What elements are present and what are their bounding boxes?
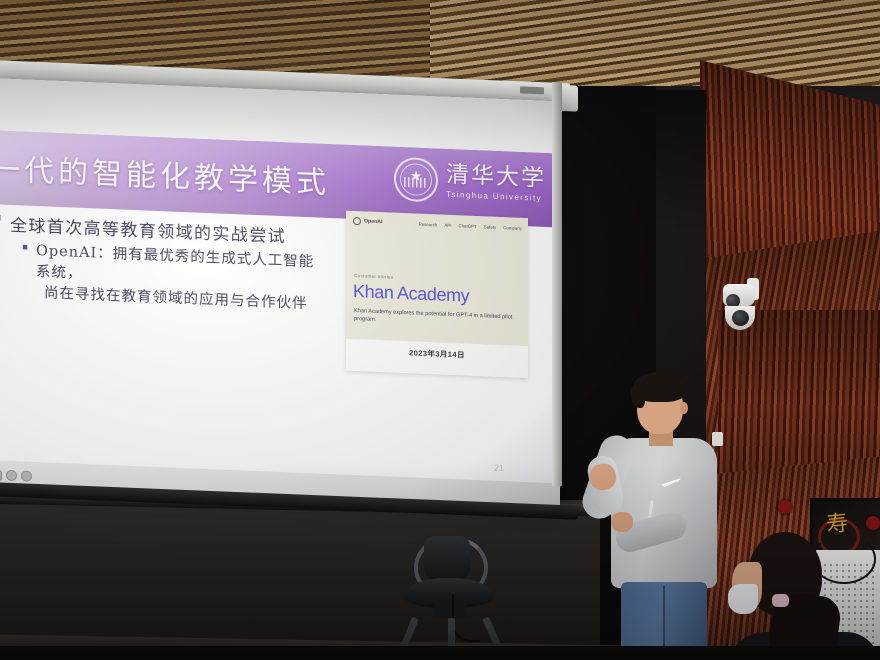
camera-dome [725, 306, 755, 330]
university-logo: 清华大学 Tsinghua University [394, 157, 546, 207]
openai-nav-links: Research API ChatGPT Safety Company [419, 221, 522, 230]
floor-strip [0, 646, 880, 660]
slide-bullet-level2-line2: 尚在寻找在教育领域的应用与合作伙伴 [36, 283, 328, 316]
slide-bullet-level2: OpenAI：拥有最优秀的生成式人工智能系统， 尚在寻找在教育领域的应用与合作伙… [0, 239, 328, 316]
projection-screen: 一代的智能化教学模式 清华大学 Tsinghua University 全球首次… [0, 78, 560, 509]
presenter-ear [680, 402, 688, 414]
slide-body: 全球首次高等教育领域的实战尝试 OpenAI：拥有最优秀的生成式人工智能系统， … [0, 210, 328, 316]
openai-webpage-screenshot: OpenAI Research API ChatGPT Safety Compa… [346, 211, 528, 378]
presenter-hair-side [631, 382, 645, 408]
wall-knob-left [778, 500, 792, 514]
tsinghua-seal-icon [394, 157, 438, 203]
screen-surface: 一代的智能化教学模式 清华大学 Tsinghua University 全球首次… [0, 78, 560, 509]
openai-mark-icon [353, 217, 361, 225]
seal-ticks [404, 177, 428, 188]
slide-bullet-level2-line1: OpenAI：拥有最优秀的生成式人工智能系统， [36, 243, 314, 282]
camera-cable [452, 594, 480, 642]
presentation-controls[interactable] [0, 469, 32, 482]
openai-nav-safety: Safety [484, 224, 496, 230]
camera-head [424, 536, 470, 580]
stop-control-icon[interactable] [0, 470, 2, 480]
housing-logo [520, 86, 544, 94]
openai-nav-research: Research [419, 221, 438, 227]
screen-right-edge [552, 82, 562, 486]
openai-headline: Khan Academy [353, 281, 469, 307]
next-control-icon[interactable] [21, 470, 32, 481]
openai-logo: OpenAI [353, 217, 382, 226]
presenter-person [585, 372, 735, 660]
presenter-lower-hand [611, 512, 633, 532]
camera-body [723, 284, 755, 306]
presenter-forearm [585, 453, 626, 516]
tripod-conference-camera [398, 534, 508, 660]
university-names: 清华大学 Tsinghua University [446, 163, 546, 202]
previous-control-icon[interactable] [6, 470, 17, 481]
openai-nav-company: Company [503, 225, 522, 231]
wall-security-camera [723, 278, 761, 334]
university-name-cn: 清华大学 [446, 163, 546, 191]
audience-member [726, 528, 880, 660]
openai-page-body: OpenAI Research API ChatGPT Safety Compa… [346, 211, 528, 346]
openai-nav-api: API [444, 222, 451, 227]
lecture-hall-screenshot: 一代的智能化教学模式 清华大学 Tsinghua University 全球首次… [0, 0, 880, 660]
dome-lens-icon [732, 310, 749, 326]
presenter-raised-fist [588, 462, 618, 492]
presentation-slide: 一代的智能化教学模式 清华大学 Tsinghua University 全球首次… [0, 130, 560, 483]
openai-date-caption: 2023年3月14日 [346, 345, 528, 363]
slide-page-number: 21 [494, 463, 504, 473]
openai-nav-chatgpt: ChatGPT [458, 223, 476, 229]
hair-tie [772, 594, 789, 607]
openai-kicker: Customer stories [354, 273, 394, 280]
openai-brand-label: OpenAI [364, 218, 382, 225]
face-mask-icon [728, 584, 758, 614]
university-name-en: Tsinghua University [446, 189, 542, 202]
openai-subtitle: Khan Academy explores the potential for … [354, 307, 520, 331]
